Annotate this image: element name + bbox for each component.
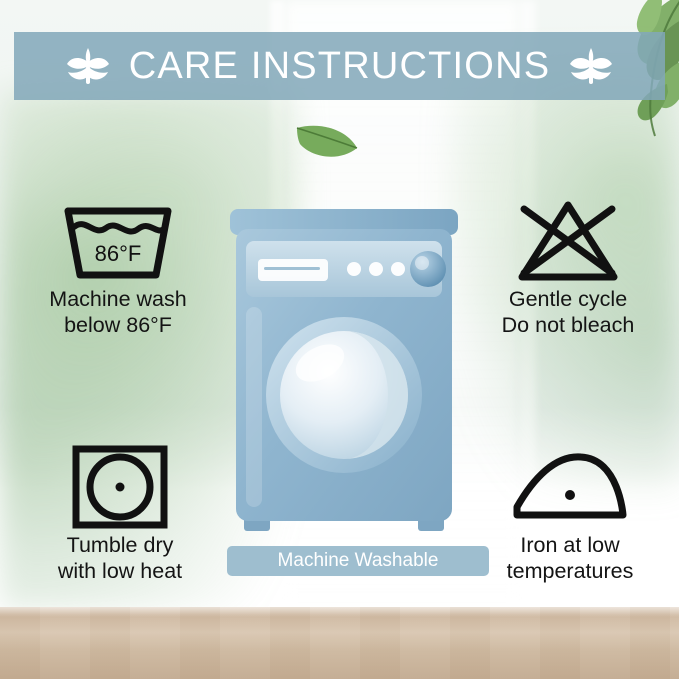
care-symbol-bleach: Gentle cycle Do not bleach xyxy=(468,194,668,338)
page-title: CARE INSTRUCTIONS xyxy=(129,45,551,88)
do-not-bleach-triangle-icon xyxy=(468,194,668,286)
background-table-grain xyxy=(0,607,679,679)
care-symbol-dry: Tumble dry with low heat xyxy=(22,440,218,584)
care-symbol-wash: 86°F Machine wash below 86°F xyxy=(18,194,218,338)
machine-washable-label-text: Machine Washable xyxy=(278,550,439,572)
fleur-de-lis-icon xyxy=(568,46,614,86)
care-instructions-poster: CARE INSTRUCTIONS xyxy=(0,0,679,679)
fleur-de-lis-icon xyxy=(65,46,111,86)
washing-machine-illustration xyxy=(222,207,466,547)
leaf-icon xyxy=(296,122,358,164)
header-banner: CARE INSTRUCTIONS xyxy=(14,32,665,100)
care-symbol-iron: Iron at low temperatures xyxy=(470,440,670,584)
iron-low-icon xyxy=(470,440,670,532)
care-caption-bleach: Gentle cycle Do not bleach xyxy=(468,286,668,338)
care-caption-wash: Machine wash below 86°F xyxy=(18,286,218,338)
care-caption-iron: Iron at low temperatures xyxy=(470,532,670,584)
tumble-dry-low-icon xyxy=(22,440,218,532)
machine-washable-label: Machine Washable xyxy=(227,546,489,576)
care-caption-dry: Tumble dry with low heat xyxy=(22,532,218,584)
wash-tub-icon: 86°F xyxy=(18,194,218,286)
wash-temperature-text: 86°F xyxy=(95,241,142,266)
